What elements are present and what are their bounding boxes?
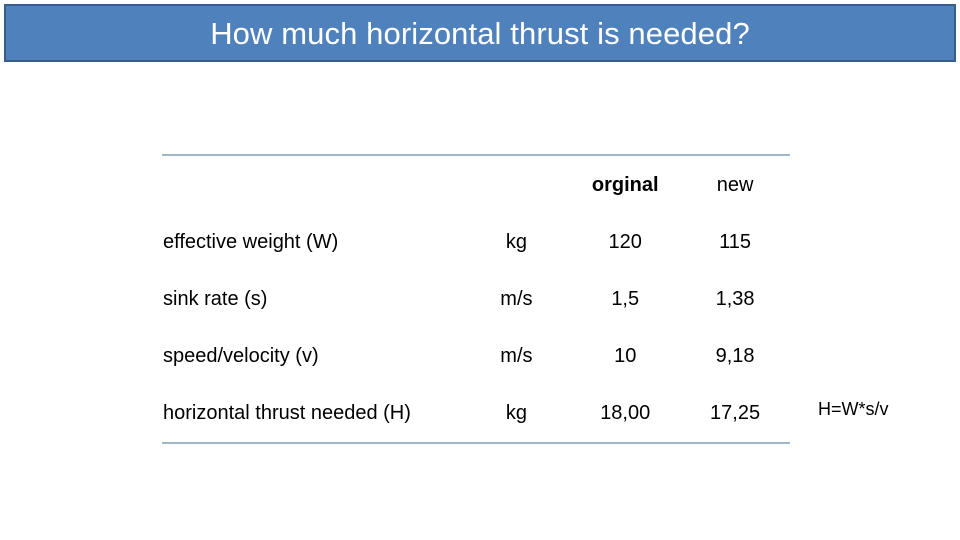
table-row: effective weight (W) kg 120 115 bbox=[162, 214, 790, 271]
row-value-new: 1,38 bbox=[680, 271, 790, 328]
formula-annotation: H=W*s/v bbox=[818, 400, 889, 418]
row-unit: m/s bbox=[463, 328, 571, 385]
row-value-original: 1,5 bbox=[570, 271, 680, 328]
slide-title-bar: How much horizontal thrust is needed? bbox=[4, 4, 956, 62]
column-header-new: new bbox=[680, 155, 790, 214]
column-header-unit bbox=[463, 155, 571, 214]
table-row: sink rate (s) m/s 1,5 1,38 bbox=[162, 271, 790, 328]
row-label: horizontal thrust needed (H) bbox=[162, 385, 463, 443]
table-row: horizontal thrust needed (H) kg 18,00 17… bbox=[162, 385, 790, 443]
page-title: How much horizontal thrust is needed? bbox=[210, 18, 750, 49]
row-value-original: 10 bbox=[570, 328, 680, 385]
row-unit: kg bbox=[463, 214, 571, 271]
row-unit: m/s bbox=[463, 271, 571, 328]
row-value-original: 120 bbox=[570, 214, 680, 271]
row-value-new: 9,18 bbox=[680, 328, 790, 385]
row-unit: kg bbox=[463, 385, 571, 443]
row-value-original: 18,00 bbox=[570, 385, 680, 443]
row-label: sink rate (s) bbox=[162, 271, 463, 328]
row-label: effective weight (W) bbox=[162, 214, 463, 271]
row-label: speed/velocity (v) bbox=[162, 328, 463, 385]
row-value-new: 17,25 bbox=[680, 385, 790, 443]
column-header-quantity bbox=[162, 155, 463, 214]
table-row: speed/velocity (v) m/s 10 9,18 bbox=[162, 328, 790, 385]
column-header-original: orginal bbox=[570, 155, 680, 214]
row-value-new: 115 bbox=[680, 214, 790, 271]
thrust-comparison-table: orginal new effective weight (W) kg 120 … bbox=[162, 154, 790, 444]
table-header-row: orginal new bbox=[162, 155, 790, 214]
